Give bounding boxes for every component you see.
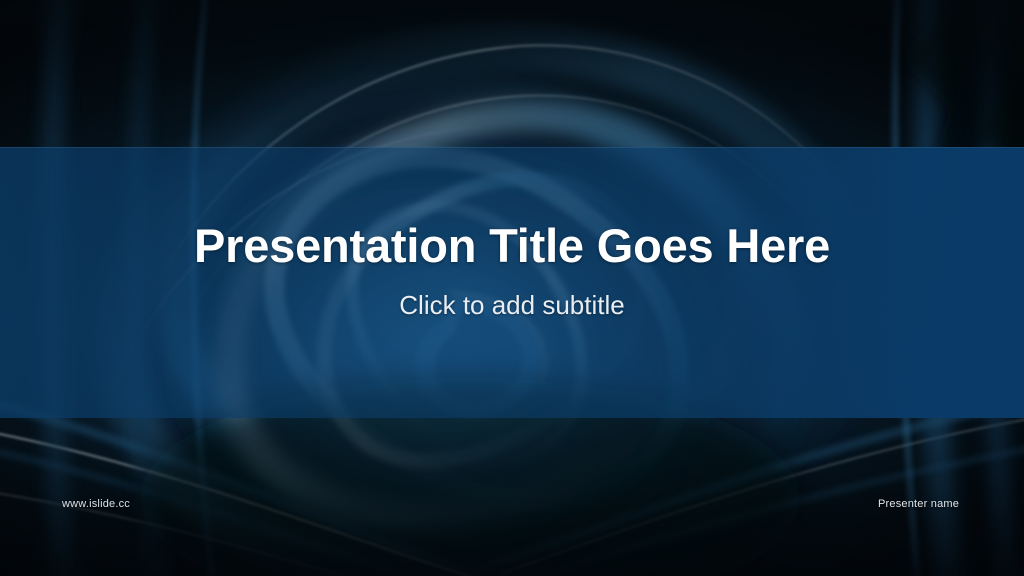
presentation-slide: Presentation Title Goes Here Click to ad… <box>0 0 1024 576</box>
title-band-overlay <box>0 147 1024 418</box>
footer-presenter-name[interactable]: Presenter name <box>878 498 959 510</box>
slide-subtitle[interactable]: Click to add subtitle <box>0 289 1024 321</box>
footer-website-link[interactable]: www.islide.cc <box>62 498 130 510</box>
title-band-top-edge <box>0 147 1024 148</box>
slide-title[interactable]: Presentation Title Goes Here <box>0 218 1024 274</box>
title-placeholder[interactable]: Presentation Title Goes Here <box>0 218 1024 274</box>
